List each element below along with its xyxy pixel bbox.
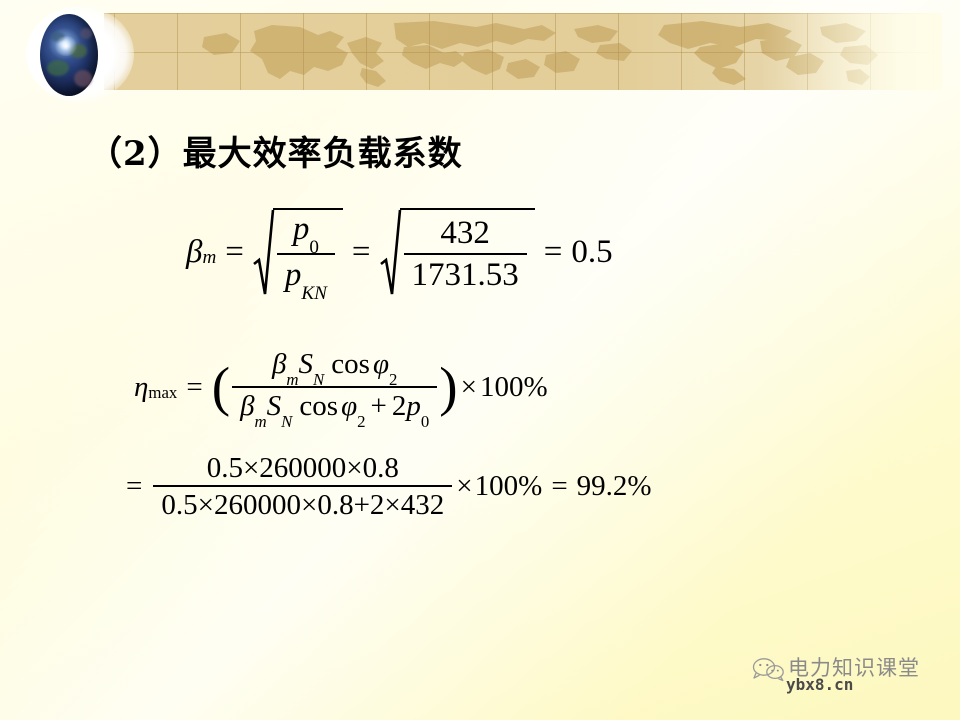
globe-icon (18, 6, 138, 102)
formula3-numerator: 0.5×260000×0.8 (199, 452, 407, 485)
formula1-result: 0.5 (571, 234, 612, 271)
formula3-denominator: 0.5×260000×0.8+2×432 (153, 485, 452, 521)
cos-operator: cos (292, 390, 338, 422)
globe-landmass (47, 60, 69, 76)
formula1-beta-subscript: m (202, 247, 216, 269)
formula2-close-paren: ) (439, 365, 457, 409)
banner-right-fade (762, 13, 942, 90)
formula2-numerator: βmSNcosφ2 (264, 348, 405, 386)
formula-beta-m: βm = p0 pKN = (186, 208, 613, 296)
formula1-fraction-2: 432 1731.53 (404, 215, 527, 294)
s-subscript: N (313, 370, 324, 389)
p-symbol: p (406, 390, 421, 422)
formula3-equals-2: = (542, 470, 576, 503)
slide-canvas: （2）最大效率负载系数 βm = p0 pKN = (0, 0, 960, 720)
phi-symbol: φ (338, 390, 357, 422)
formula1-denominator-1: pKN (277, 253, 335, 298)
formula1-numerator-1: p0 (285, 211, 327, 253)
p-subscript: KN (301, 283, 327, 304)
formula1-radical-2: 432 1731.53 (380, 208, 535, 296)
s-subscript: N (281, 412, 292, 431)
phi-subscript: 2 (357, 412, 365, 431)
beta-symbol: β (272, 348, 286, 380)
radical-sign-icon (380, 208, 402, 296)
formula1-equals-3: = (535, 234, 572, 271)
phi-symbol: φ (370, 348, 389, 380)
formula1-radical-1: p0 pKN (253, 208, 343, 296)
formula3-result: 99.2% (577, 470, 652, 503)
formula3-fraction: 0.5×260000×0.8 0.5×260000×0.8+2×432 (153, 452, 452, 522)
formula1-radicand-2: 432 1731.53 (400, 208, 535, 296)
wechat-icon (752, 656, 786, 682)
globe-specular-highlight (54, 36, 78, 56)
beta-symbol: β (240, 390, 254, 422)
formula2-eta-subscript: max (148, 383, 177, 403)
globe-landmass (74, 70, 92, 87)
globe-sphere (40, 14, 98, 96)
formula3-equals-1: = (126, 470, 151, 503)
p-subscript: 0 (421, 412, 429, 431)
formula2-times: × (458, 371, 480, 404)
p-symbol: p (293, 211, 310, 247)
page-title: （2）最大效率负载系数 (88, 126, 463, 175)
formula3-times: × (454, 470, 474, 503)
formula2-open-paren: ( (212, 365, 230, 409)
formula1-radicand-1: p0 pKN (273, 208, 343, 296)
p-subscript: 0 (309, 237, 319, 258)
formula1-equals-1: = (216, 234, 253, 271)
coefficient-2: 2 (392, 390, 407, 422)
radical-sign-icon (253, 208, 275, 296)
formula1-equals-2: = (343, 234, 380, 271)
p-symbol: p (285, 257, 302, 293)
header-banner (104, 13, 942, 90)
watermark-url: ybx8.cn (786, 675, 853, 694)
globe-landmass (80, 28, 92, 39)
s-symbol: S (267, 390, 282, 422)
beta-subscript: m (255, 412, 267, 431)
formula1-denominator-2: 1731.53 (404, 253, 527, 294)
beta-subscript: m (286, 370, 298, 389)
formula2-fraction: βmSNcosφ2 βmSNcosφ2+2p0 (232, 348, 437, 426)
formula1-beta: β (186, 234, 202, 271)
plus-operator: + (366, 390, 392, 422)
formula-eta-max: ηmax = ( βmSNcosφ2 βmSNcosφ2+2p0 ) × 100… (134, 348, 548, 426)
formula-eta-max-numeric: = 0.5×260000×0.8 0.5×260000×0.8+2×432 × … (126, 452, 652, 522)
formula2-equals: = (177, 371, 211, 404)
cos-operator: cos (324, 348, 370, 380)
watermark: 电力知识课堂 ybx8.cn (752, 652, 952, 708)
formula1-numerator-2: 432 (432, 215, 498, 253)
phi-subscript: 2 (389, 370, 397, 389)
formula1-fraction-1: p0 pKN (277, 211, 335, 298)
formula3-percent: 100% (475, 470, 543, 503)
formula2-percent: 100% (480, 371, 548, 404)
formula2-denominator: βmSNcosφ2+2p0 (232, 386, 437, 427)
s-symbol: S (299, 348, 314, 380)
formula2-eta: η (134, 371, 148, 404)
